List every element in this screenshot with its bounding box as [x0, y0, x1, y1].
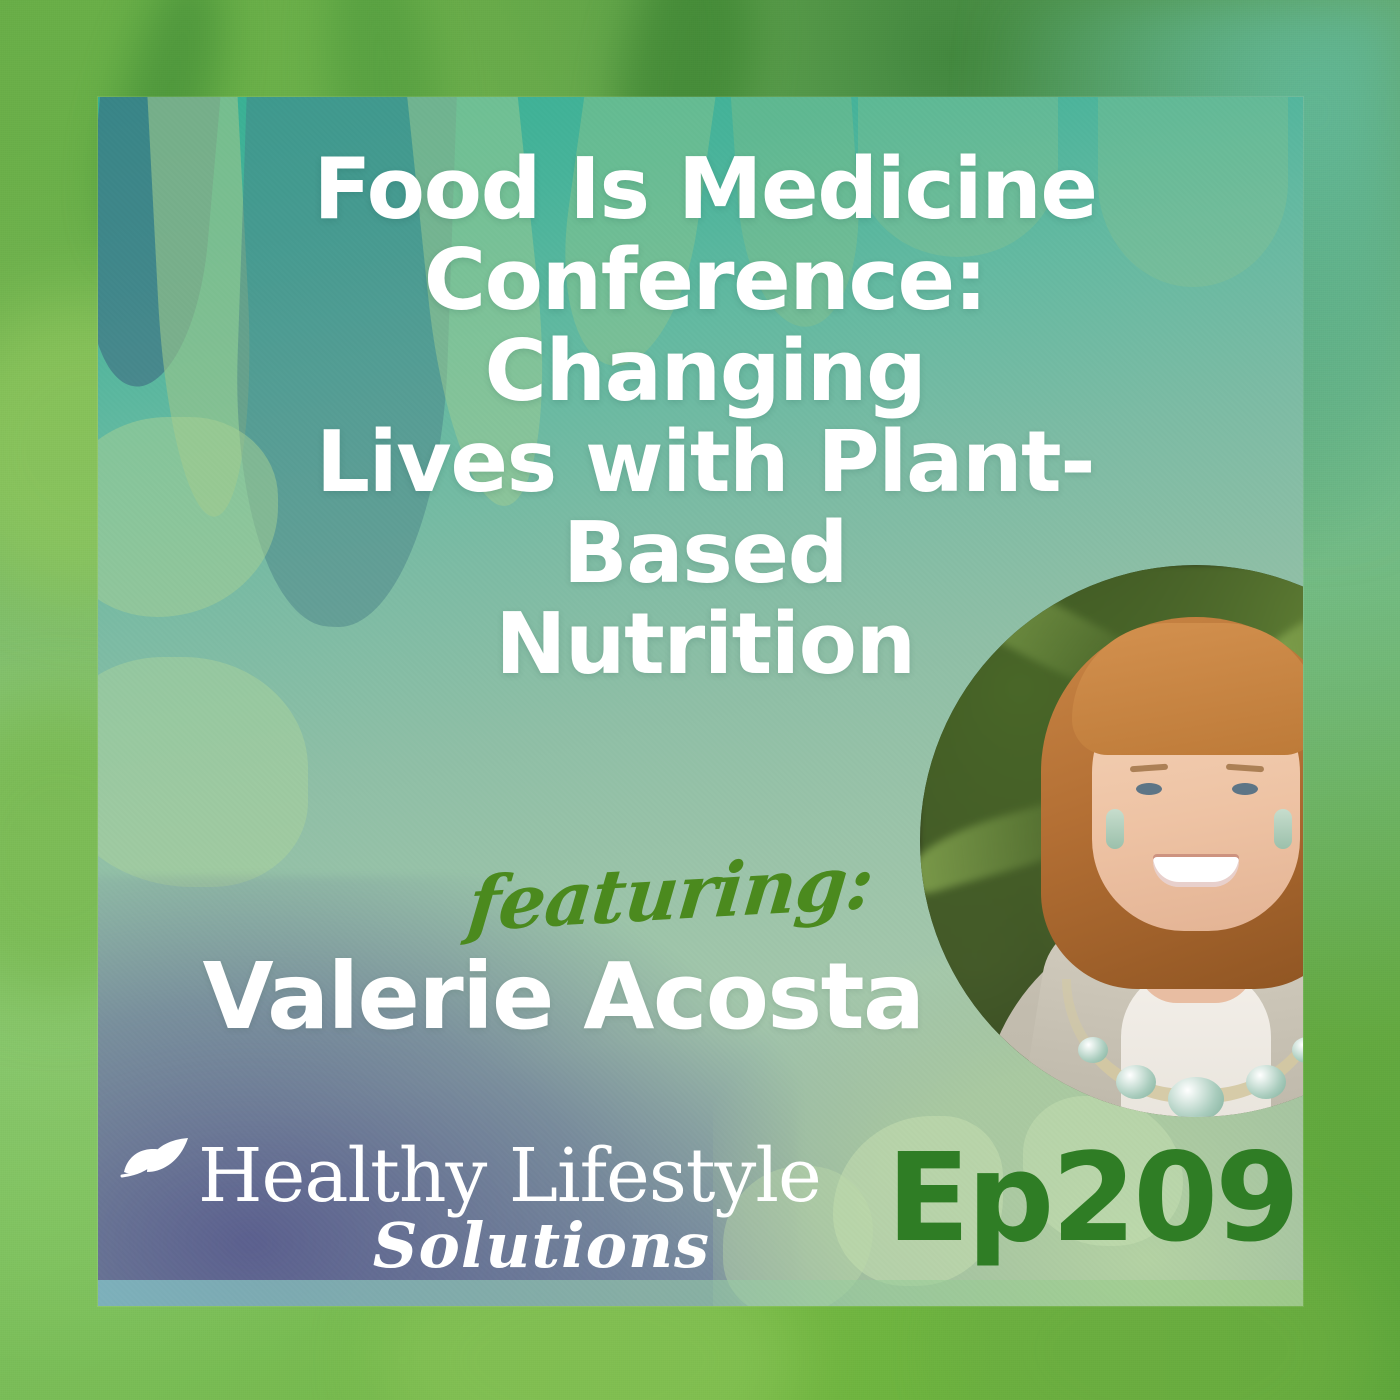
- episode-number: Ep209: [887, 1137, 1297, 1259]
- portrait-necklace-gem-4: [1078, 1037, 1108, 1063]
- featuring-block: featuring: Valerie Acosta: [168, 857, 958, 1046]
- brand-name-secondary: Solutions: [120, 1215, 740, 1277]
- portrait-necklace-gem-1: [1168, 1077, 1224, 1117]
- title-line-1: Food Is Medicine: [190, 145, 1220, 236]
- portrait-eye-left: [1136, 783, 1162, 795]
- guest-name: Valerie Acosta: [168, 949, 958, 1046]
- brand-logo-row: Healthy Lifestyle: [120, 1132, 740, 1219]
- portrait-necklace-gem-3: [1246, 1065, 1286, 1099]
- card-leaf-8: [98, 657, 308, 887]
- portrait-earring-left: [1106, 809, 1124, 849]
- featuring-label: featuring:: [380, 841, 962, 948]
- cover-card: Food Is Medicine Conference: Changing Li…: [98, 97, 1303, 1306]
- brand-name-primary: Healthy Lifestyle: [198, 1139, 821, 1213]
- portrait-earring-right: [1274, 809, 1292, 849]
- guest-portrait: [920, 565, 1303, 1117]
- brand-logo: Healthy Lifestyle Solutions: [120, 1132, 740, 1277]
- title-line-2: Conference: Changing: [190, 236, 1220, 418]
- portrait-eye-right: [1232, 783, 1258, 795]
- portrait-necklace-gem-2: [1116, 1065, 1156, 1099]
- leaf-icon: [120, 1132, 194, 1209]
- card-bottom-strip: [98, 1280, 1303, 1306]
- portrait-smile: [1153, 857, 1239, 887]
- podcast-cover-art: Food Is Medicine Conference: Changing Li…: [0, 0, 1400, 1400]
